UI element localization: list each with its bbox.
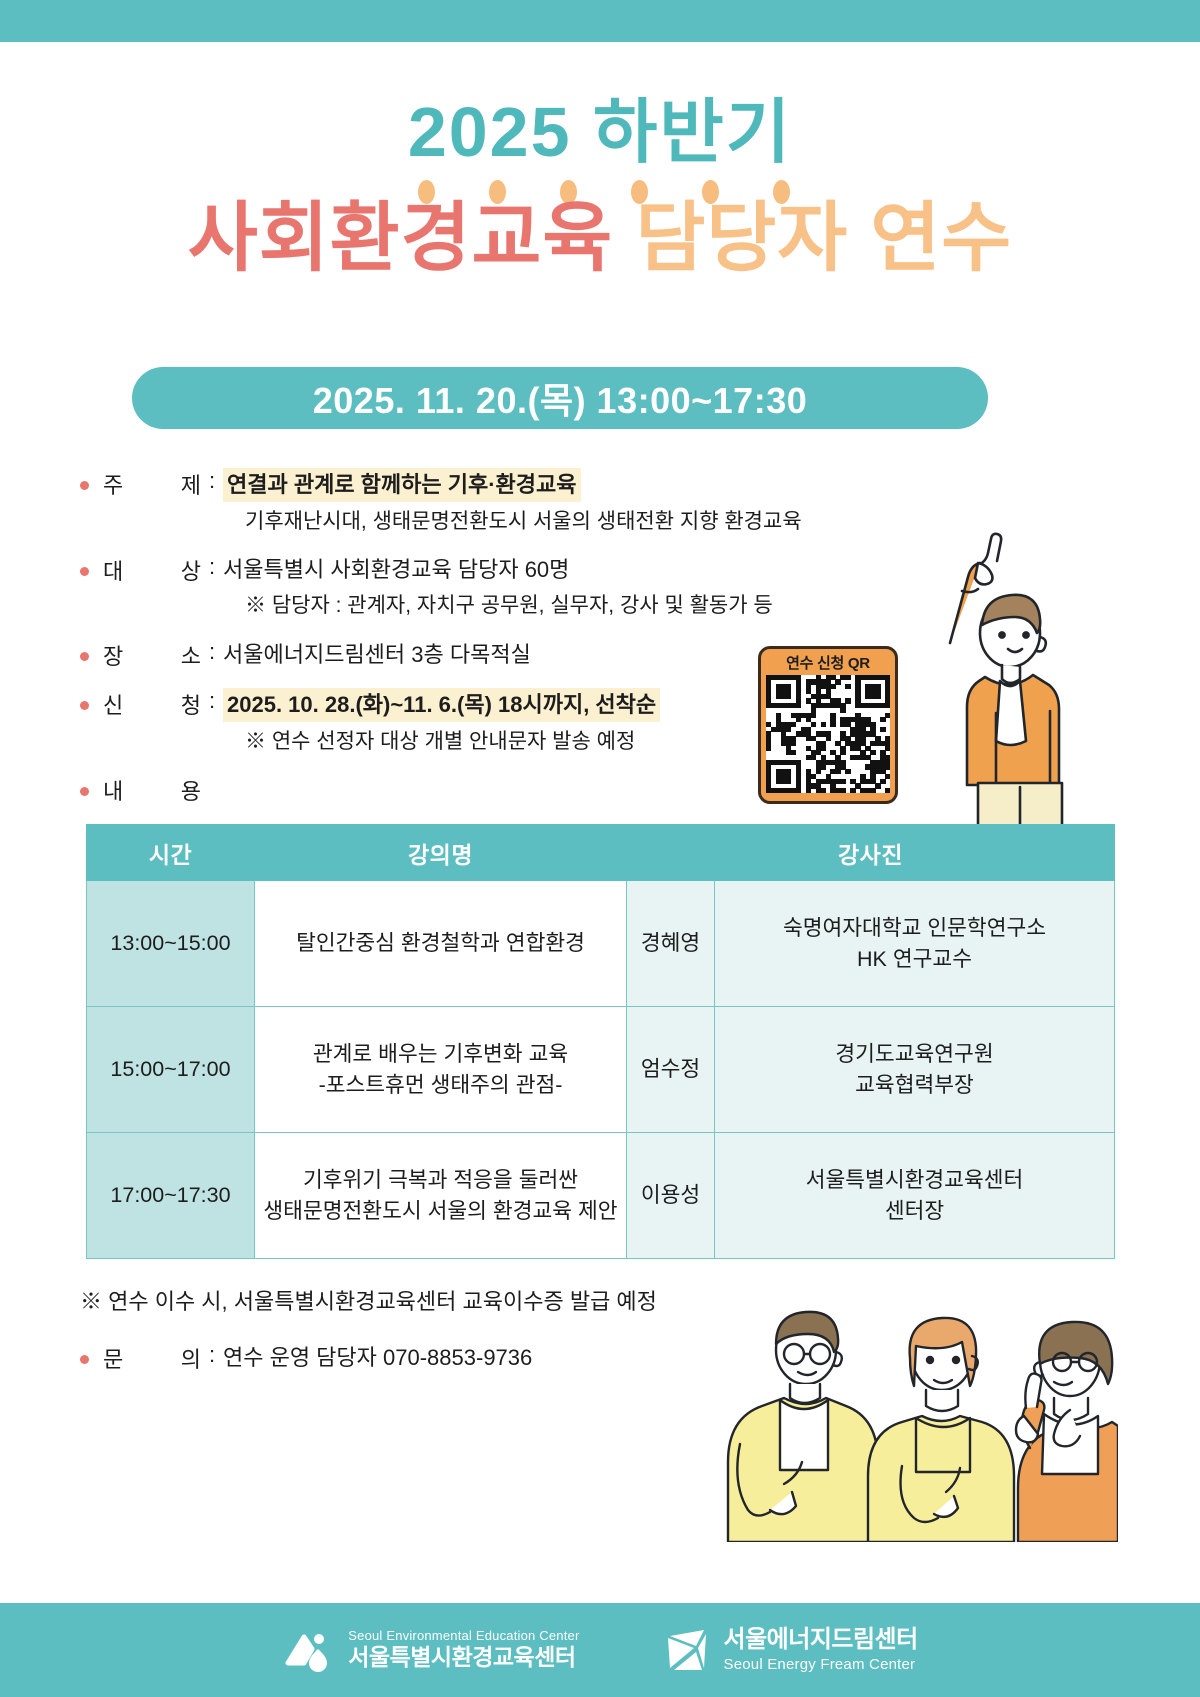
lecture-line-2: 생태문명전환도시 서울의 환경교육 제안 [263, 1196, 618, 1226]
qr-code-image[interactable] [766, 675, 890, 793]
top-accent-bar [0, 0, 1200, 42]
cell-time: 17:00~17:30 [87, 1133, 255, 1259]
header-lecture: 강의명 [255, 825, 627, 881]
lecture-line-2: -포스트휴먼 생태주의 관점- [263, 1070, 618, 1100]
cell-lecture: 탈인간중심 환경철학과 연합환경 [255, 881, 627, 1007]
bullet-icon [80, 481, 89, 490]
bullet-icon [80, 1355, 89, 1364]
info-main-text: 2025. 10. 28.(화)~11. 6.(목) 18시까지, 선착순 [223, 688, 660, 722]
title-audience: 담당자 연수 [635, 196, 1012, 281]
table-row: 13:00~15:00 탈인간중심 환경철학과 연합환경 경혜영 숙명여자대학교… [87, 881, 1115, 1007]
title-line-1: 2025 하반기 [0, 96, 1200, 170]
title-subject: 사회환경교육 [188, 196, 614, 281]
cell-time: 13:00~15:00 [87, 881, 255, 1007]
cell-affiliation: 숙명여자대학교 인문학연구소 HK 연구교수 [715, 881, 1115, 1007]
affiliation-line-1: 경기도교육연구원 [723, 1039, 1106, 1069]
cell-lecturer-name: 이용성 [627, 1133, 715, 1259]
info-colon: : [201, 688, 223, 714]
cell-affiliation: 경기도교육연구원 교육협력부장 [715, 1007, 1115, 1133]
logo2-korean-name: 서울에너지드림센터 [724, 1626, 918, 1655]
cell-lecture: 관계로 배우는 기후변화 교육 -포스트휴먼 생태주의 관점- [255, 1007, 627, 1133]
affiliation-line-2: 교육협력부장 [723, 1070, 1106, 1100]
lecture-line-1: 기후위기 극복과 적응을 둘러싼 [263, 1165, 618, 1195]
info-label: 내 용 [103, 774, 201, 806]
logo-seoul-env-education-center: Seoul Environmental Education Center 서울특… [282, 1623, 579, 1677]
affiliation-line-1: 숙명여자대학교 인문학연구소 [723, 913, 1106, 943]
seoul-energy-dream-logo-icon [660, 1624, 712, 1676]
contact-value: 연수 운영 담당자 070-8853-9736 [223, 1342, 532, 1374]
schedule-table: 시간 강의명 강사진 13:00~15:00 탈인간중심 환경철학과 연합환경 … [86, 824, 1115, 1259]
affiliation-line-1: 서울특별시환경교육센터 [723, 1165, 1106, 1195]
affiliation-line-2: HK 연구교수 [723, 944, 1106, 974]
pointing-man-illustration [890, 525, 1070, 825]
info-main-text: 서울특별시 사회환경교육 담당자 60명 [223, 557, 569, 582]
logo2-english-name: Seoul Energy Fream Center [724, 1655, 918, 1675]
cell-lecturer-name: 엄수정 [627, 1007, 715, 1133]
info-label: 장 소 [103, 639, 201, 671]
info-label: 대 상 [103, 554, 201, 586]
info-main-text: 서울에너지드림센터 3층 다목적실 [223, 642, 531, 667]
poster-title: 2025 하반기 사회환경교육 담당자 연수 [0, 96, 1200, 280]
info-colon: : [201, 639, 223, 665]
bullet-icon [80, 787, 89, 796]
info-colon: : [201, 468, 223, 494]
contact-colon: : [201, 1342, 223, 1368]
info-label: 주 제 [103, 468, 201, 500]
three-people-illustration [718, 1232, 1118, 1542]
info-label: 신 청 [103, 688, 201, 720]
header-lecturer: 강사진 [627, 825, 1115, 881]
cell-lecturer-name: 경혜영 [627, 881, 715, 1007]
cell-lecture: 기후위기 극복과 적응을 둘러싼 생태문명전환도시 서울의 환경교육 제안 [255, 1133, 627, 1259]
bullet-icon [80, 701, 89, 710]
logo1-english-name: Seoul Environmental Education Center [348, 1628, 579, 1644]
contact-label: 문 의 [103, 1342, 201, 1374]
cell-time: 15:00~17:00 [87, 1007, 255, 1133]
affiliation-line-2: 센터장 [723, 1196, 1106, 1226]
table-row: 15:00~17:00 관계로 배우는 기후변화 교육 -포스트휴먼 생태주의 … [87, 1007, 1115, 1133]
logo-seoul-energy-dream-center: 서울에너지드림센터 Seoul Energy Fream Center [660, 1624, 918, 1676]
header-time: 시간 [87, 825, 255, 881]
info-colon: : [201, 554, 223, 580]
bullet-icon [80, 652, 89, 661]
footer-logos: Seoul Environmental Education Center 서울특… [0, 1603, 1200, 1697]
qr-label: 연수 신청 QR [766, 653, 890, 675]
table-header-row: 시간 강의명 강사진 [87, 825, 1115, 881]
title-line-2: 사회환경교육 담당자 연수 [0, 198, 1200, 280]
seoul-env-center-logo-icon [282, 1623, 336, 1677]
logo1-korean-name: 서울특별시환경교육센터 [348, 1644, 579, 1672]
lecture-line-1: 관계로 배우는 기후변화 교육 [263, 1039, 618, 1069]
date-banner: 2025. 11. 20.(목) 13:00~17:30 [132, 367, 988, 429]
qr-application-box[interactable]: 연수 신청 QR [758, 646, 898, 804]
info-main-text: 연결과 관계로 함께하는 기후·환경교육 [223, 468, 581, 502]
bullet-icon [80, 567, 89, 576]
